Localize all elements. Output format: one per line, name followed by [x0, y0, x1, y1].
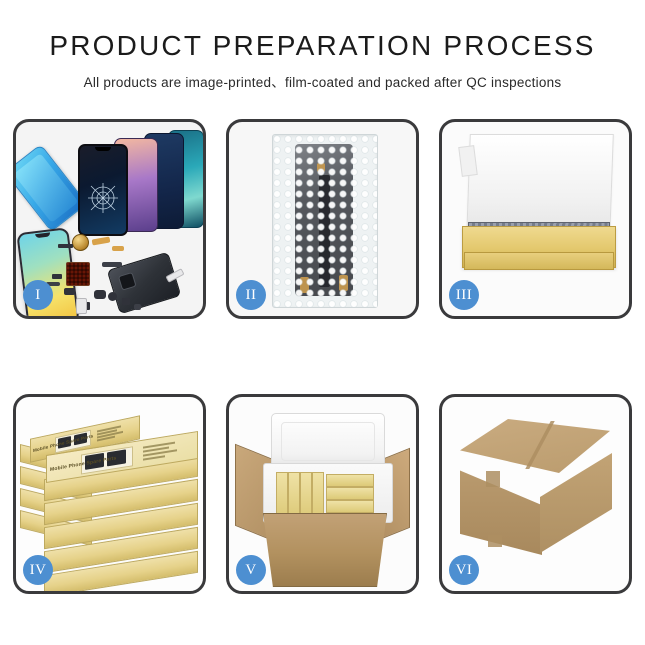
step-badge-1: I	[23, 280, 53, 310]
yellow-box-in-foam	[288, 472, 300, 518]
phone-notch	[35, 232, 50, 238]
carton-tab	[488, 535, 502, 547]
step-badge-2: II	[236, 280, 266, 310]
yellow-box-in-foam	[326, 500, 374, 513]
carton-top-face	[460, 419, 610, 473]
step-badge-3: III	[449, 280, 479, 310]
page-title: PRODUCT PREPARATION PROCESS	[0, 30, 645, 62]
gold-component	[72, 234, 89, 251]
white-part	[76, 298, 87, 314]
flex-cable	[112, 246, 124, 251]
yellow-box-in-foam	[276, 472, 288, 518]
step-badge-6: VI	[449, 555, 479, 585]
bubble-texture	[273, 135, 377, 307]
product-preparation-infographic: PRODUCT PREPARATION PROCESS All products…	[0, 0, 645, 645]
step-panel-3: III	[439, 119, 632, 319]
phone-notch	[95, 147, 111, 151]
carton-tab	[486, 471, 500, 487]
step-panel-2: II	[226, 119, 419, 319]
yellow-box-in-foam	[300, 472, 312, 518]
cracked-screen-phone	[78, 144, 128, 236]
step-badge-5: V	[236, 555, 266, 585]
camera-lens	[118, 272, 137, 291]
small-part	[108, 292, 117, 301]
screen-crack-icon	[86, 181, 120, 215]
carton-body	[263, 513, 387, 587]
label-line	[143, 455, 165, 460]
yellow-box-front	[464, 252, 614, 270]
yellow-box-in-foam	[312, 472, 324, 518]
small-part	[134, 304, 141, 310]
step-panel-1: I	[13, 119, 206, 319]
header: PRODUCT PREPARATION PROCESS All products…	[0, 0, 645, 91]
page-subtitle: All products are image-printed、film-coat…	[0, 71, 645, 91]
step-panel-6: VI	[439, 394, 632, 594]
ic-chip	[66, 262, 90, 286]
step-panel-5: V	[226, 394, 419, 594]
small-part	[122, 298, 130, 305]
small-part	[58, 244, 73, 248]
small-part	[94, 290, 106, 299]
step-badge-4: IV	[23, 555, 53, 585]
yellow-box-in-foam	[326, 474, 374, 487]
step-panel-4: Mobile Phone Spare Parts Mobil	[13, 394, 206, 594]
bubble-wrap-bag	[272, 134, 378, 308]
small-part	[52, 274, 62, 279]
process-steps-grid: I II	[13, 119, 632, 594]
flex-cable	[92, 236, 111, 245]
flex-cable	[102, 262, 122, 267]
blue-phone-shell	[13, 144, 88, 232]
small-part	[64, 288, 75, 295]
yellow-box-in-foam	[326, 487, 374, 500]
